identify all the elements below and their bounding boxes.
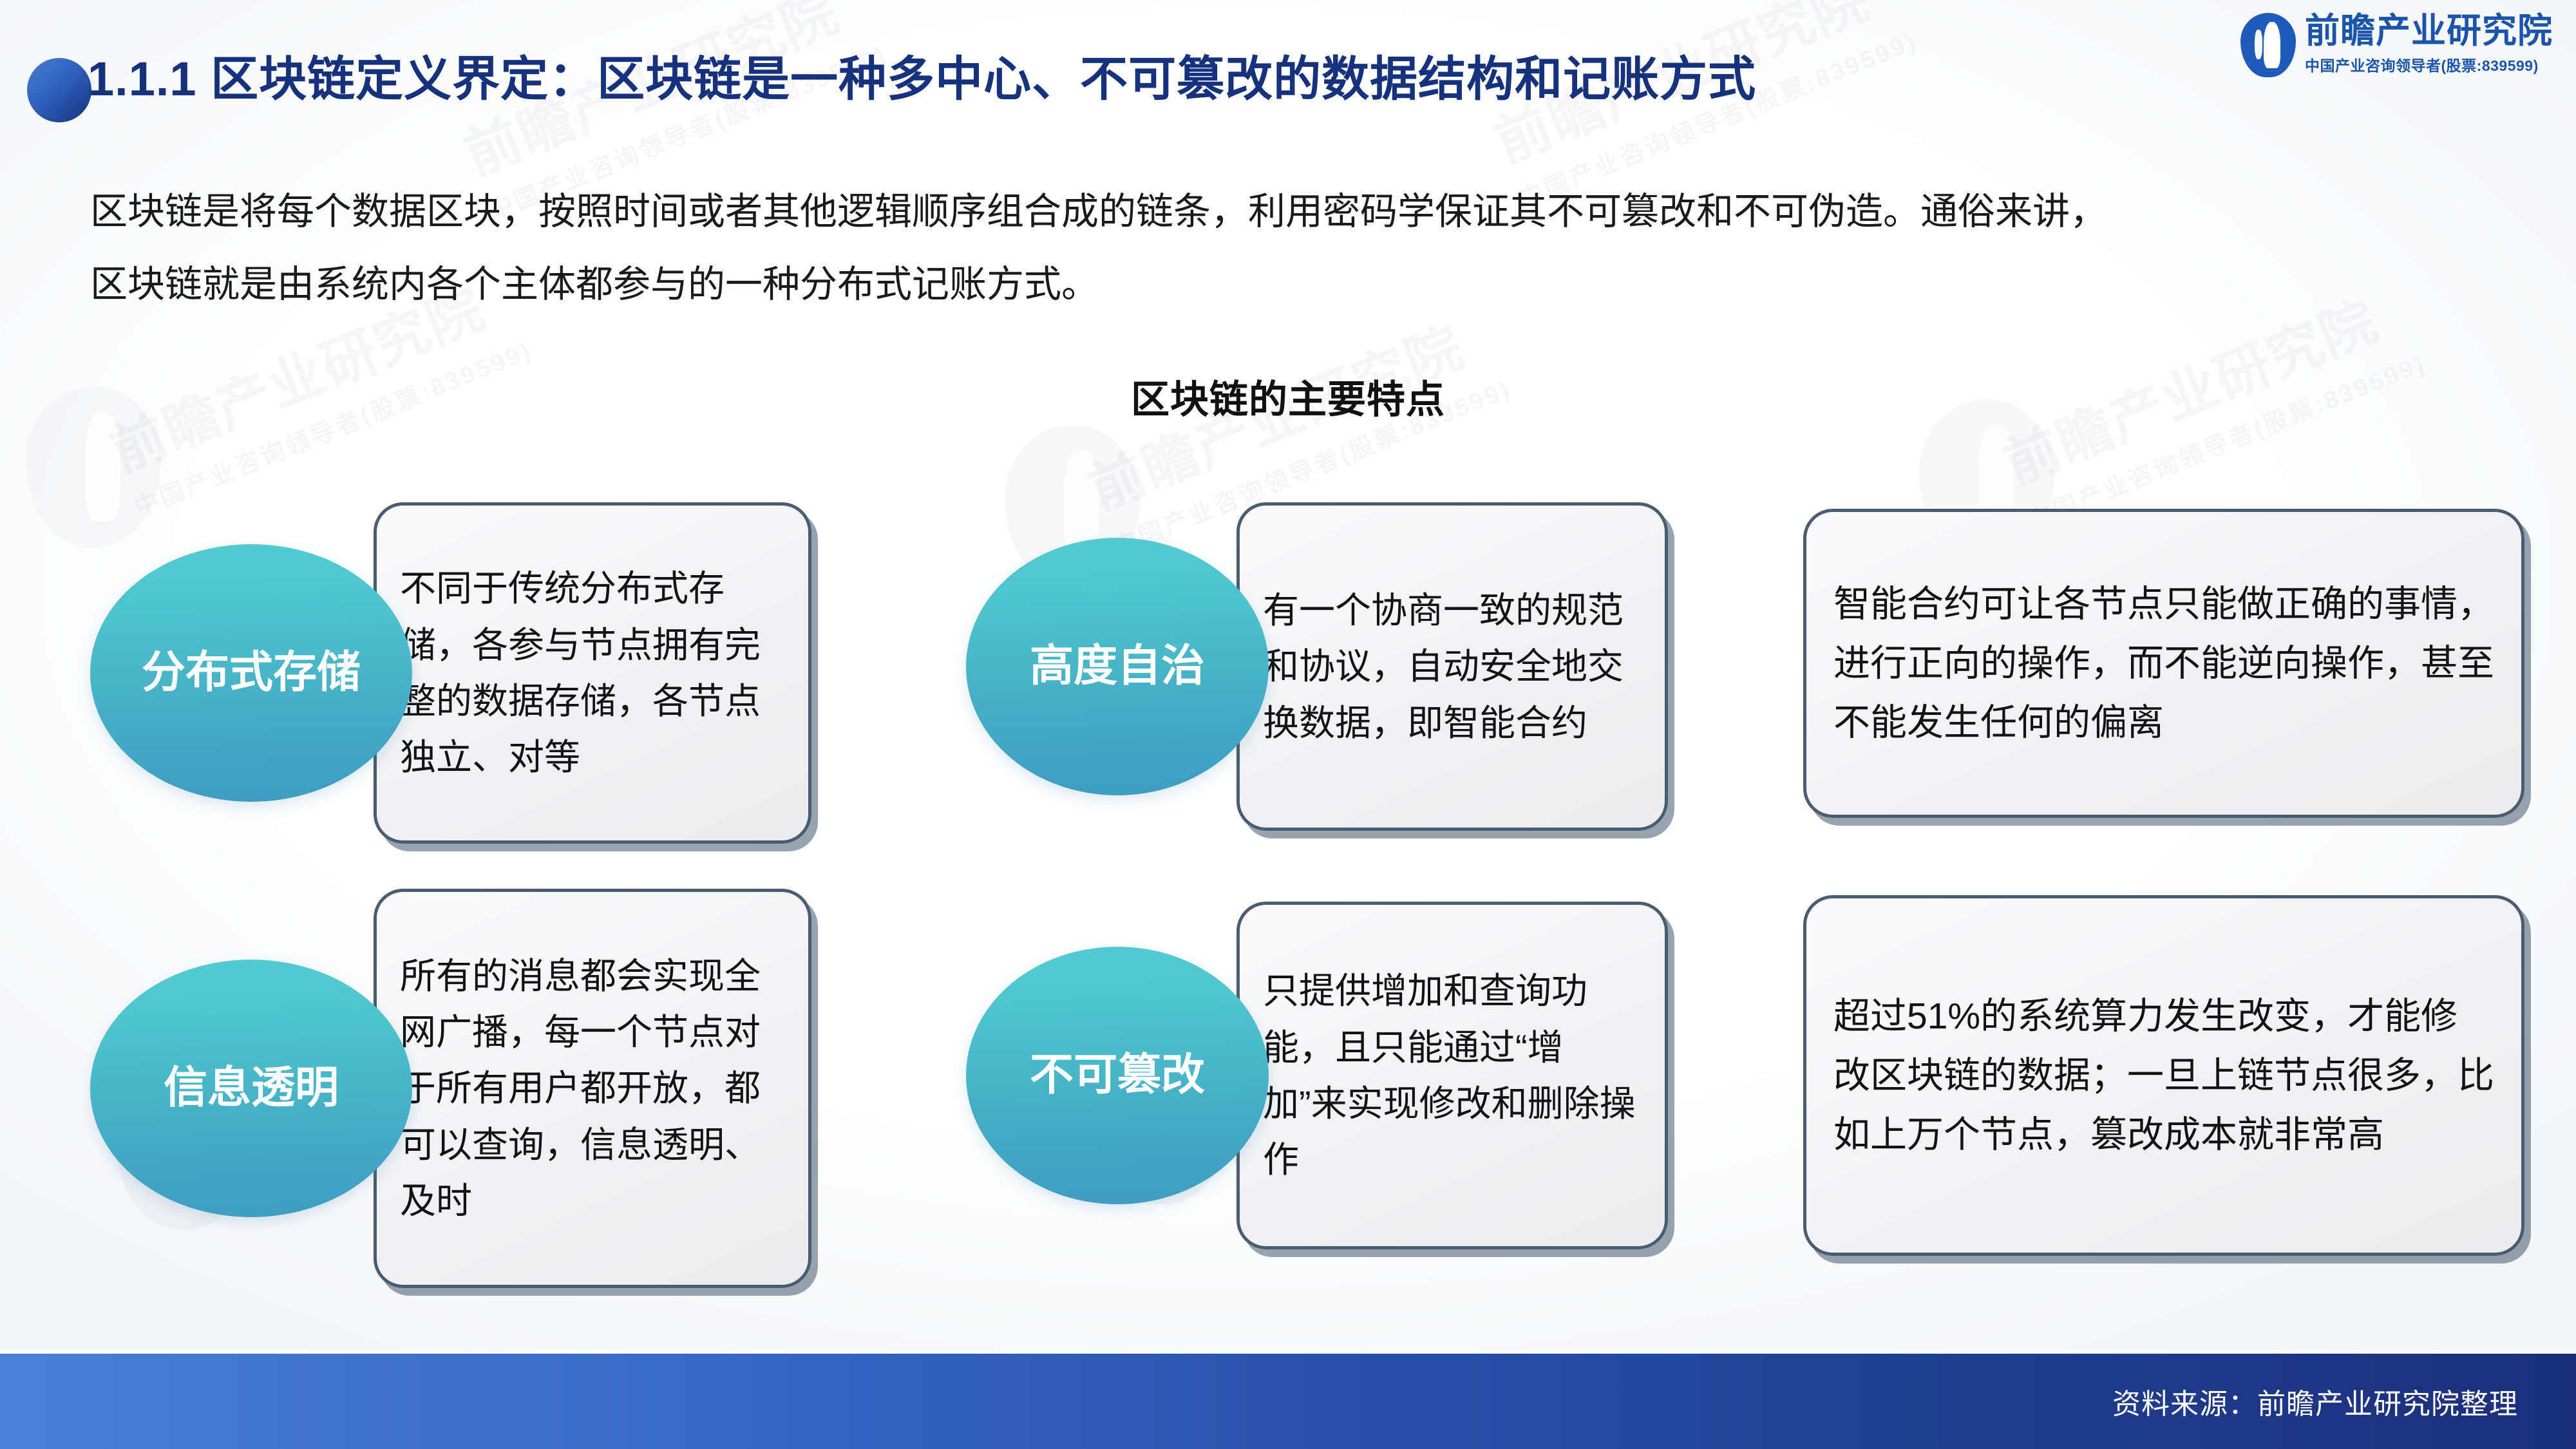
intro-line-2: 区块链就是由系统内各个主体都参与的一种分布式记账方式。 bbox=[90, 248, 2512, 321]
feature-label-bubble: 信息透明 bbox=[90, 960, 412, 1217]
footer-divider bbox=[0, 1350, 2576, 1354]
feature-item-immutability: 不可篡改 只提供增加和查询功能，且只能通过“增加”来实现修改和删除操作 bbox=[966, 902, 1668, 1249]
slide-header: 1.1.1 区块链定义界定：区块链是一种多中心、不可篡改的数据结构和记账方式 前… bbox=[0, 0, 2576, 148]
section-caption: 区块链的主要特点 bbox=[0, 368, 2576, 424]
source-note: 资料来源：前瞻产业研究院整理 bbox=[2112, 1381, 2518, 1422]
feature-description-text: 不同于传统分布式存储，各参与节点拥有完整的数据存储，各节点独立、对等 bbox=[377, 538, 808, 807]
company-tagline: 中国产业咨询领导者(股票:839599) bbox=[2305, 53, 2553, 75]
feature-description-text: 只提供增加和查询功能，且只能通过“增加”来实现修改和删除操作 bbox=[1240, 941, 1665, 1209]
feature-item-high-autonomy: 高度自治 有一个协商一致的规范和协议，自动安全地交换数据，即智能合约 bbox=[966, 502, 1668, 831]
feature-item-51-percent-attack-cost: 超过51%的系统算力发生改变，才能修改区块链的数据；一旦上链节点很多，比如上万个… bbox=[1803, 895, 2524, 1256]
feature-item-smart-contract: 智能合约可让各节点只能做正确的事情，进行正向的操作，而不能逆向操作，甚至不能发生… bbox=[1803, 509, 2524, 818]
slide-canvas: 前瞻产业研究院 中国产业咨询领导者(股票:839599) 前瞻产业研究院 中国产… bbox=[0, 0, 2576, 1449]
feature-label-bubble: 高度自治 bbox=[966, 538, 1269, 795]
feature-description-text: 所有的消息都会实现全网广播，每一个节点对于所有用户都开放，都可以查询，信息透明、… bbox=[377, 926, 808, 1251]
watermark-sub-text: 中国产业咨询领导者(股票:839599) bbox=[128, 330, 537, 523]
bullet-circle-icon bbox=[27, 58, 91, 122]
feature-label-bubble: 分布式存储 bbox=[90, 544, 412, 802]
company-logo: 前瞻产业研究院 中国产业咨询领导者(股票:839599) bbox=[2240, 13, 2553, 77]
qianzhan-logo-icon bbox=[2240, 13, 2296, 77]
feature-label-bubble: 不可篡改 bbox=[966, 947, 1269, 1204]
feature-description-card: 有一个协商一致的规范和协议，自动安全地交换数据，即智能合约 bbox=[1236, 502, 1668, 831]
feature-description-text: 有一个协商一致的规范和协议，自动安全地交换数据，即智能合约 bbox=[1240, 560, 1665, 773]
page-title: 1.1.1 区块链定义界定：区块链是一种多中心、不可篡改的数据结构和记账方式 bbox=[88, 52, 1756, 106]
feature-description-text: 智能合约可让各节点只能做正确的事情，进行正向的操作，而不能逆向操作，甚至不能发生… bbox=[1806, 555, 2521, 772]
feature-description-text: 超过51%的系统算力发生改变，才能修改区块链的数据；一旦上链节点很多，比如上万个… bbox=[1806, 967, 2521, 1184]
feature-description-card: 所有的消息都会实现全网广播，每一个节点对于所有用户都开放，都可以查询，信息透明、… bbox=[374, 889, 811, 1288]
feature-description-card: 智能合约可让各节点只能做正确的事情，进行正向的操作，而不能逆向操作，甚至不能发生… bbox=[1803, 509, 2524, 818]
feature-description-card: 超过51%的系统算力发生改变，才能修改区块链的数据；一旦上链节点很多，比如上万个… bbox=[1803, 895, 2524, 1256]
feature-item-information-transparency: 信息透明 所有的消息都会实现全网广播，每一个节点对于所有用户都开放，都可以查询，… bbox=[90, 889, 811, 1288]
company-logo-text: 前瞻产业研究院 中国产业咨询领导者(股票:839599) bbox=[2305, 13, 2553, 75]
slide-footer: 资料来源：前瞻产业研究院整理 bbox=[0, 1354, 2576, 1449]
company-name: 前瞻产业研究院 bbox=[2305, 13, 2553, 50]
intro-line-1: 区块链是将每个数据区块，按照时间或者其他逻辑顺序组合成的链条，利用密码学保证其不… bbox=[90, 175, 2512, 248]
feature-item-distributed-storage: 分布式存储 不同于传统分布式存储，各参与节点拥有完整的数据存储，各节点独立、对等 bbox=[90, 502, 811, 844]
feature-description-card: 不同于传统分布式存储，各参与节点拥有完整的数据存储，各节点独立、对等 bbox=[374, 502, 811, 844]
feature-description-card: 只提供增加和查询功能，且只能通过“增加”来实现修改和删除操作 bbox=[1236, 902, 1668, 1249]
intro-paragraph: 区块链是将每个数据区块，按照时间或者其他逻辑顺序组合成的链条，利用密码学保证其不… bbox=[90, 175, 2512, 321]
